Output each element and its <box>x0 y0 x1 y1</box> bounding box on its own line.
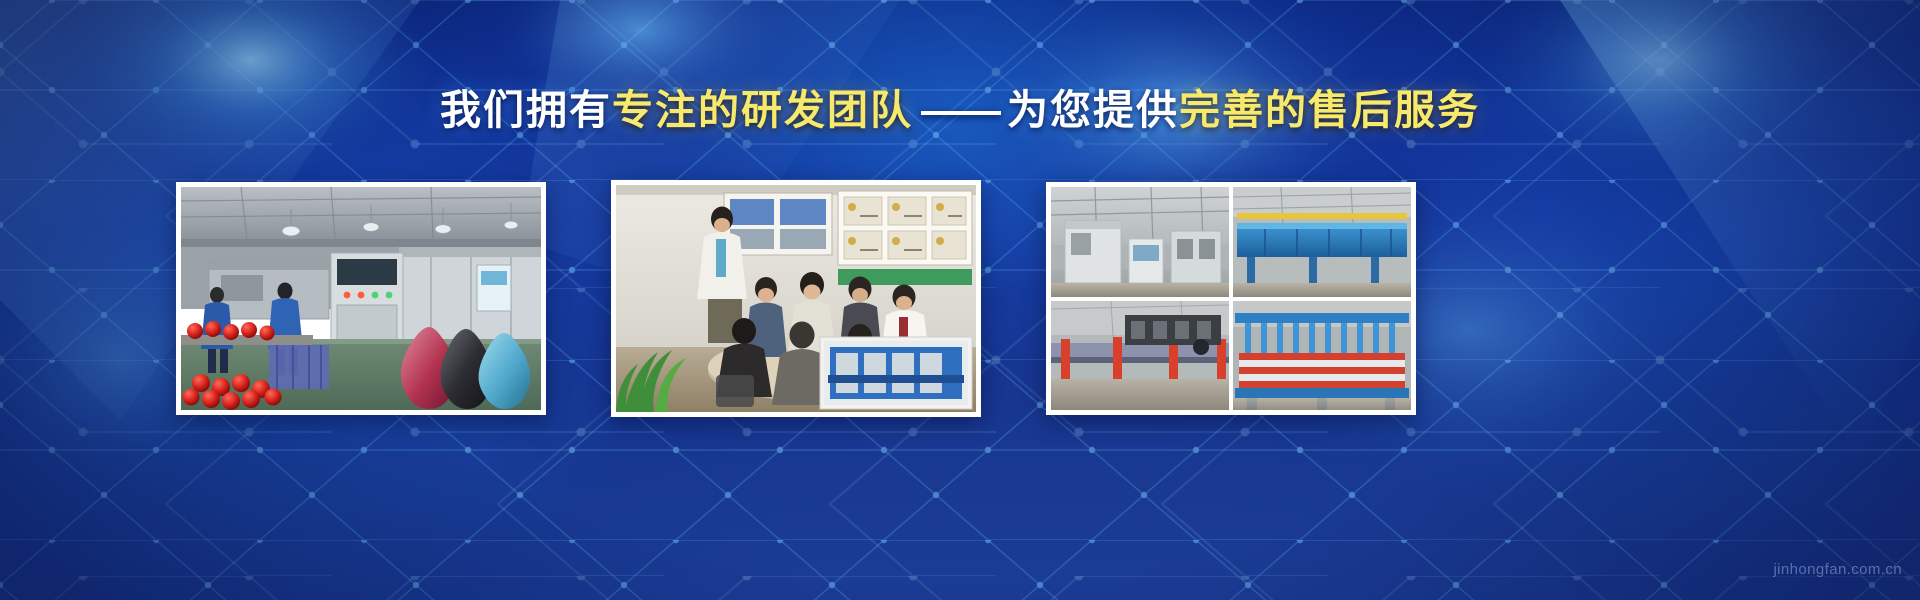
site-watermark: jinhongfan.com.cn <box>1773 561 1902 578</box>
headline-segment-3: 为您提供 <box>1007 87 1179 133</box>
page-title: 我们拥有专注的研发团队——为您提供完善的售后服务 <box>0 84 1920 136</box>
headline-segment-4: 完善的售后服务 <box>1179 87 1480 133</box>
photo-card-factory[interactable] <box>176 182 546 415</box>
promotional-banner: 我们拥有专注的研发团队——为您提供完善的售后服务 <box>0 0 1920 600</box>
headline-segment-2: 专注的研发团队 <box>612 87 913 133</box>
photo-gallery <box>0 182 1920 422</box>
photo-card-production-line[interactable] <box>1046 182 1416 415</box>
headline-separator-dash: —— <box>913 87 1007 133</box>
photo-card-meeting[interactable] <box>611 180 981 417</box>
photo-factory <box>181 187 541 410</box>
headline-segment-1: 我们拥有 <box>440 87 612 133</box>
photo-meeting <box>616 185 976 412</box>
photo-production-line <box>1051 187 1411 410</box>
